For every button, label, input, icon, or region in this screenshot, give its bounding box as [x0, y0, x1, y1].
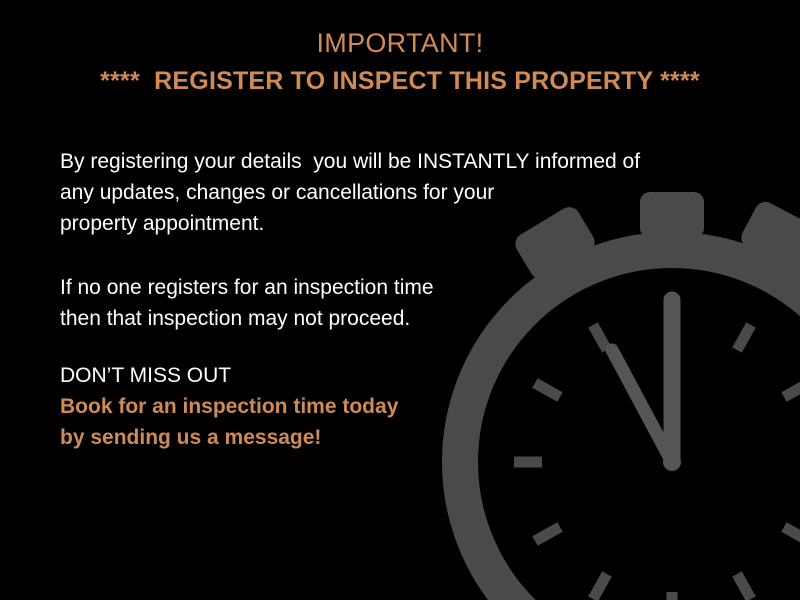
slide-content: IMPORTANT! **** REGISTER TO INSPECT THIS…: [0, 0, 800, 600]
heading-block: IMPORTANT! **** REGISTER TO INSPECT THIS…: [0, 26, 800, 98]
paragraph-no-registrations-line-2: then that inspection may not proceed.: [60, 303, 580, 334]
paragraph-registering-details: By registering your details you will be …: [60, 146, 720, 239]
paragraph-registering-line-1: By registering your details you will be …: [60, 146, 720, 177]
cta-dont-miss-out: DON’T MISS OUT: [60, 360, 580, 391]
paragraph-no-registrations: If no one registers for an inspection ti…: [60, 272, 580, 334]
heading-register-to-inspect: **** REGISTER TO INSPECT THIS PROPERTY *…: [0, 64, 800, 98]
heading-important: IMPORTANT!: [0, 26, 800, 60]
promo-slide: IMPORTANT! **** REGISTER TO INSPECT THIS…: [0, 0, 800, 600]
paragraph-registering-line-3: property appointment.: [60, 208, 720, 239]
call-to-action-block: DON’T MISS OUT Book for an inspection ti…: [60, 360, 580, 453]
cta-book-inspection: Book for an inspection time today: [60, 391, 580, 422]
cta-send-message: by sending us a message!: [60, 422, 580, 453]
paragraph-no-registrations-line-1: If no one registers for an inspection ti…: [60, 272, 580, 303]
paragraph-registering-line-2: any updates, changes or cancellations fo…: [60, 177, 720, 208]
